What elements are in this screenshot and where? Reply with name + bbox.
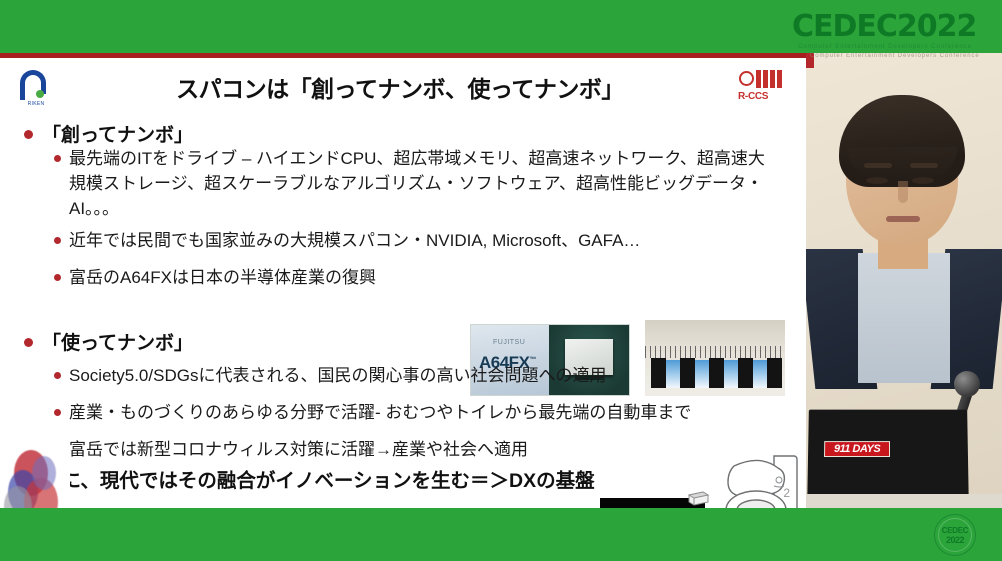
bullet-2-2: 産業・ものづくりのあらゆる分野で活躍- おむつやトイレから最先端の自動車まで (54, 400, 691, 425)
bullet-2-1: Society5.0/SDGsに代表される、国民の関心事の高い社会問題への適用 (54, 363, 606, 388)
rack-panel (695, 360, 709, 390)
rccs-bar (777, 70, 782, 88)
rack (767, 358, 782, 390)
bullet-2-1-text: Society5.0/SDGsに代表される、国民の関心事の高い社会問題への適用 (69, 366, 606, 385)
rack-panel (666, 360, 680, 390)
rack (738, 358, 753, 390)
bullet-dot (54, 237, 61, 244)
eye-left (866, 177, 888, 184)
bullet-1-2: 近年では民間でも国家並みの大規模スパコン・NVIDIA, Microsoft、G… (54, 228, 640, 253)
bullet-2-3-text: 富岳では新型コロナウィルス対策に活躍→産業や社会へ適用 (69, 440, 528, 459)
shirt (858, 253, 950, 383)
riken-logo-caption: RIKEN (16, 101, 56, 107)
bullet-1-3: 富岳のA64FXは日本の半導体産業の復興 (54, 265, 376, 290)
laptop: 911 DAYS (807, 410, 969, 508)
fujitsu-wordmark: FUJITSU (493, 339, 525, 346)
riken-mark-leg (20, 86, 25, 100)
fugaku-racks-image (645, 320, 785, 396)
bullet-1-1-text: 最先端のITをドライブ – ハイエンドCPU、超広帯域メモリ、超高速ネットワーク… (69, 149, 765, 218)
bullet-dot (54, 274, 61, 281)
spike-protein-image (2, 444, 70, 508)
bullet-dot (24, 130, 33, 139)
bottom-green-banner: CEDEC 2022 (0, 508, 1002, 561)
badge-label: CEDEC (942, 526, 969, 535)
final-bullet-text: 更に、現代ではその融合がイノベーションを生む＝＞DXの基盤 (42, 470, 595, 492)
desk-surface (806, 494, 1002, 508)
section-heading-2: 「使ってナンボ」 (24, 328, 193, 355)
bullet-dot (54, 409, 61, 416)
slide-page-number: 2 (783, 486, 790, 500)
sensor-svg (686, 490, 710, 506)
rack (651, 358, 666, 390)
rack (709, 358, 724, 390)
cedec-wordmark: CEDEC2022 (792, 12, 972, 42)
sensor-device-icon (686, 490, 710, 506)
riken-logo: RIKEN (16, 68, 56, 108)
rack-panel (753, 360, 767, 390)
bullet-2-2-text: 産業・ものづくりのあらゆる分野で活躍- おむつやトイレから最先端の自動車まで (69, 403, 691, 422)
section-heading-1: 「創ってナンボ」 (24, 120, 193, 147)
riken-mark-dot (36, 90, 44, 98)
rccs-ring-icon (739, 71, 754, 86)
laptop-sticker: 911 DAYS (824, 441, 890, 457)
section-heading-1-text: 「創ってナンボ」 (42, 125, 193, 146)
rack (680, 358, 695, 390)
rccs-bar (770, 70, 775, 88)
mouth (886, 216, 920, 222)
eyebrow-right (910, 163, 938, 168)
presentation-slide: RIKEN R-CCS スパコンは「創ってナンボ、使ってナンボ」 「創ってナンボ… (0, 58, 806, 508)
cedec-logo: CEDEC2022 Computer Entertainment Develop… (792, 12, 972, 54)
microphone-icon (954, 371, 980, 397)
final-bullet: 更に、現代ではその融合がイノベーションを生む＝＞DXの基盤 (24, 464, 595, 493)
bullet-1-2-text: 近年では民間でも国家並みの大規模スパコン・NVIDIA, Microsoft、G… (69, 231, 640, 250)
presenter-video-pane[interactable]: Computer Entertainment Developers Confer… (806, 53, 1002, 508)
rccs-logo-caption: R-CCS (738, 91, 788, 102)
eyebrow-left (864, 163, 892, 168)
rccs-bar (756, 70, 761, 88)
cedec-logo-subtitle: Computer Entertainment Developers Confer… (792, 43, 972, 50)
rack-panel (724, 360, 738, 390)
video-caption: Computer Entertainment Developers Confer… (810, 53, 1002, 59)
bullet-dot (54, 372, 61, 379)
section-heading-2-text: 「使ってナンボ」 (42, 333, 193, 354)
nose (898, 181, 908, 203)
bullet-dot (54, 155, 61, 162)
ceiling-truss (645, 346, 785, 358)
bullet-dot (24, 338, 33, 347)
bullet-1-1: 最先端のITをドライブ – ハイエンドCPU、超広帯域メモリ、超高速ネットワーク… (54, 146, 769, 221)
rccs-bar (763, 70, 768, 88)
bullet-2-3: 富岳では新型コロナウィルス対策に活躍→産業や社会へ適用 (54, 437, 528, 462)
bullet-1-3-text: 富岳のA64FXは日本の半導体産業の復興 (69, 268, 376, 287)
rccs-logo: R-CCS (738, 68, 788, 110)
protein-blob (32, 456, 56, 490)
floor (645, 388, 785, 396)
slide-title: スパコンは「創ってナンボ、使ってナンボ」 (120, 70, 680, 104)
eye-right (912, 177, 934, 184)
badge-year: 2022 (946, 535, 964, 545)
cedec-circular-badge: CEDEC 2022 (934, 514, 976, 556)
top-green-banner: CEDEC2022 Computer Entertainment Develop… (0, 0, 1002, 53)
